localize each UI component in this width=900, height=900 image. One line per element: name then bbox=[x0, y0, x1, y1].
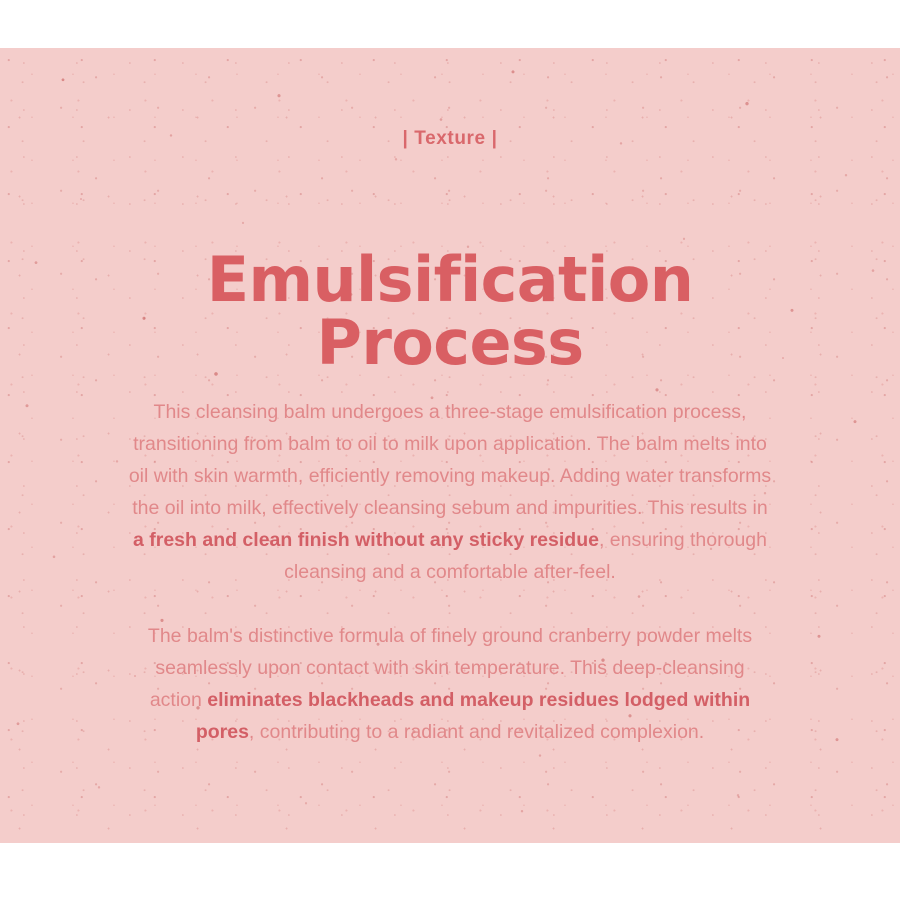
plain-text: , contributing to a radiant and revitali… bbox=[249, 721, 704, 743]
plain-text: This cleansing balm undergoes a three-st… bbox=[129, 401, 771, 519]
body-copy-block: This cleansing balm undergoes a three-st… bbox=[128, 376, 772, 767]
speckled-pink-panel: | Texture | Emulsification Process This … bbox=[0, 48, 900, 843]
page-title-line-2: Process bbox=[0, 311, 900, 375]
page-title-line-1: Emulsification bbox=[0, 248, 900, 312]
body-paragraph-2: The balm's distinctive formula of finely… bbox=[128, 620, 772, 748]
body-paragraph-1: This cleansing balm undergoes a three-st… bbox=[128, 396, 772, 588]
page-title: Emulsification Process bbox=[0, 248, 900, 376]
card-content: | Texture | Emulsification Process This … bbox=[0, 48, 900, 843]
emphasis-text: a fresh and clean finish without any sti… bbox=[133, 529, 599, 551]
product-detail-card: | Texture | Emulsification Process This … bbox=[0, 0, 900, 900]
section-eyebrow-label: | Texture | bbox=[0, 128, 900, 150]
